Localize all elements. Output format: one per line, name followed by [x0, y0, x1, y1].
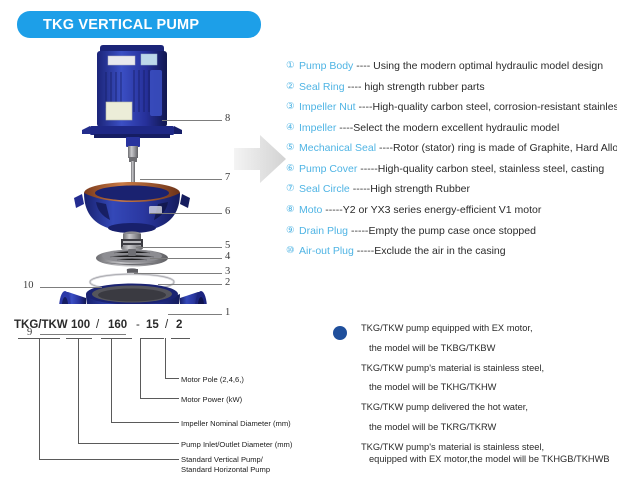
- variant-note-line: the model will be TKHG/TKHW: [369, 383, 613, 392]
- legend-description: Y2 or YX3 series energy-efficient V1 mot…: [343, 204, 542, 216]
- legend-part-name: Air-out Plug: [299, 245, 354, 257]
- code-token-impeller: 160: [108, 319, 127, 331]
- callout-number-4: 4: [225, 251, 230, 262]
- legend-part-name: Impeller: [299, 122, 336, 134]
- legend-dash: -----: [354, 245, 374, 257]
- callout-line-10: [40, 287, 102, 288]
- page-title: TKG VERTICAL PUMP: [43, 17, 199, 33]
- legend-item: ⑤ Mechanical Seal ---- Rotor (stator) ri…: [286, 142, 611, 154]
- legend-part-name: Pump Cover: [299, 163, 357, 175]
- callout-line-3: [134, 273, 222, 274]
- legend-part-name: Mechanical Seal: [299, 142, 376, 154]
- legend-item: ⑧ Moto ----- Y2 or YX3 series energy-eff…: [286, 204, 611, 216]
- callout-number-3: 3: [225, 266, 230, 277]
- callout-line-5: [136, 247, 222, 248]
- variant-note-line: the model will be TKBG/TKBW: [369, 344, 613, 353]
- code-underline-inlet: [66, 338, 92, 339]
- legend-description: Select the modern excellent hydraulic mo…: [353, 122, 559, 134]
- callout-number-10: 10: [23, 280, 34, 291]
- callout-line-8: [162, 120, 222, 121]
- code-token-series: TKG/TKW: [14, 319, 68, 331]
- shaft-coupling-part: [126, 137, 140, 183]
- code-label-series-2: Standard Horizontal Pump: [181, 464, 270, 475]
- code-separator-3: /: [165, 319, 168, 331]
- legend-item: ⑥ Pump Cover ----- High-quality carbon s…: [286, 163, 611, 175]
- callout-line-2: [158, 284, 222, 285]
- code-label-pole: Motor Pole (2,4,6,): [181, 374, 244, 385]
- legend-index: ⑨: [286, 225, 299, 237]
- legend-description: High-quality carbon steel, stainless ste…: [378, 163, 604, 175]
- variant-note-line: equipped with EX motor,the model will be…: [369, 455, 613, 464]
- code-separator-1: /: [96, 319, 99, 331]
- legend-dash: ----: [356, 101, 373, 113]
- motor-part: [82, 45, 182, 138]
- variant-note-line: the model will be TKRG/TKRW: [369, 423, 613, 432]
- page-title-banner: TKG VERTICAL PUMP: [17, 11, 261, 38]
- legend-description: Empty the pump case once stopped: [368, 225, 536, 237]
- legend-index: ①: [286, 60, 299, 72]
- legend-description: Using the modern optimal hydraulic model…: [373, 60, 603, 72]
- legend-part-name: Drain Plug: [299, 225, 348, 237]
- exploded-pump-figure: 8 7 6 5 4 3 2 1 10 9: [22, 42, 262, 304]
- legend-item: ⑨ Drain Plug ----- Empty the pump case o…: [286, 225, 611, 237]
- code-run-pole: [165, 378, 179, 379]
- callout-number-2: 2: [225, 277, 230, 288]
- legend-item: ⑦ Seal Circle ----- High strength Rubber: [286, 183, 611, 195]
- legend-index: ④: [286, 122, 299, 134]
- legend-dash: ----: [336, 122, 353, 134]
- code-separator-2: -: [136, 319, 140, 331]
- code-underline-impeller: [101, 338, 132, 339]
- legend-description: Exclude the air in the casing: [374, 245, 505, 257]
- code-underline-pole: [171, 338, 190, 339]
- model-variant-notes: TKG/TKW pump equipped with EX motor, the…: [333, 322, 613, 475]
- legend-part-name: Pump Body: [299, 60, 353, 72]
- code-token-pole: 2: [176, 319, 182, 331]
- legend-dash: ----: [376, 142, 393, 154]
- code-run-impeller: [111, 422, 179, 423]
- code-drop-series: [39, 338, 40, 459]
- code-drop-pole: [165, 338, 166, 378]
- legend-index: ⑩: [286, 245, 299, 257]
- legend-part-name: Moto: [299, 204, 322, 216]
- variant-note-line: TKG/TKW pump equipped with EX motor,: [361, 324, 613, 333]
- code-label-inlet: Pump Inlet/Outlet Diameter (mm): [181, 439, 292, 450]
- legend-index: ②: [286, 81, 299, 93]
- callout-number-5: 5: [225, 240, 230, 251]
- legend-index: ⑤: [286, 142, 299, 154]
- bullet-dot-icon: [333, 326, 347, 340]
- code-run-power: [140, 398, 179, 399]
- callout-number-7: 7: [225, 172, 230, 183]
- legend-dash: -----: [348, 225, 368, 237]
- legend-description: high strength rubber parts: [364, 81, 484, 93]
- callout-line-7: [140, 179, 222, 180]
- code-token-inlet: 100: [71, 319, 90, 331]
- legend-index: ⑥: [286, 163, 299, 175]
- legend-dash: -----: [350, 183, 370, 195]
- callout-number-8: 8: [225, 113, 230, 124]
- legend-description: High-quality carbon steel, corrosion-res…: [373, 101, 617, 113]
- callout-line-4: [150, 258, 222, 259]
- legend-item: ① Pump Body ---- Using the modern optima…: [286, 60, 611, 72]
- variant-note-line: TKG/TKW pump delivered the hot water,: [361, 403, 613, 412]
- variant-note-line: TKG/TKW pump's material is stainless ste…: [361, 443, 613, 452]
- legend-description: Rotor (stator) ring is made of Graphite,…: [393, 142, 617, 154]
- pump-cover-part: [74, 182, 190, 233]
- code-run-inlet: [78, 443, 179, 444]
- legend-index: ⑧: [286, 204, 299, 216]
- variant-note-line: TKG/TKW pump's material is stainless ste…: [361, 364, 613, 373]
- legend-description: High strength Rubber: [370, 183, 470, 195]
- code-token-power: 15: [146, 319, 159, 331]
- code-underline-power: [141, 338, 164, 339]
- code-drop-power: [140, 338, 141, 398]
- legend-item: ② Seal Ring ---- high strength rubber pa…: [286, 81, 611, 93]
- legend-index: ⑦: [286, 183, 299, 195]
- code-drop-impeller: [111, 338, 112, 422]
- legend-index: ③: [286, 101, 299, 113]
- legend-item: ③ Impeller Nut ---- High-quality carbon …: [286, 101, 611, 113]
- legend-dash: ----: [353, 60, 373, 72]
- mechanical-seal-part: [121, 231, 143, 251]
- callout-line-6: [150, 213, 222, 214]
- parts-legend-list: ① Pump Body ---- Using the modern optima…: [286, 60, 611, 266]
- callout-number-6: 6: [225, 206, 230, 217]
- right-arrow-icon: [232, 132, 288, 186]
- legend-item: ⑩ Air-out Plug ----- Exclude the air in …: [286, 245, 611, 257]
- code-drop-inlet: [78, 338, 79, 443]
- legend-dash: ----: [345, 81, 365, 93]
- legend-item: ④ Impeller ---- Select the modern excell…: [286, 122, 611, 134]
- legend-part-name: Seal Ring: [299, 81, 345, 93]
- legend-dash: -----: [322, 204, 342, 216]
- model-code-breakdown: TKG/TKW 100 / 160 - 15 / 2 Motor Pole (2…: [0, 312, 320, 500]
- legend-part-name: Seal Circle: [299, 183, 350, 195]
- code-run-series: [39, 459, 179, 460]
- legend-dash: -----: [357, 163, 377, 175]
- code-label-impeller: Impeller Nominal Diameter (mm): [181, 418, 291, 429]
- code-label-power: Motor Power (kW): [181, 394, 242, 405]
- legend-part-name: Impeller Nut: [299, 101, 356, 113]
